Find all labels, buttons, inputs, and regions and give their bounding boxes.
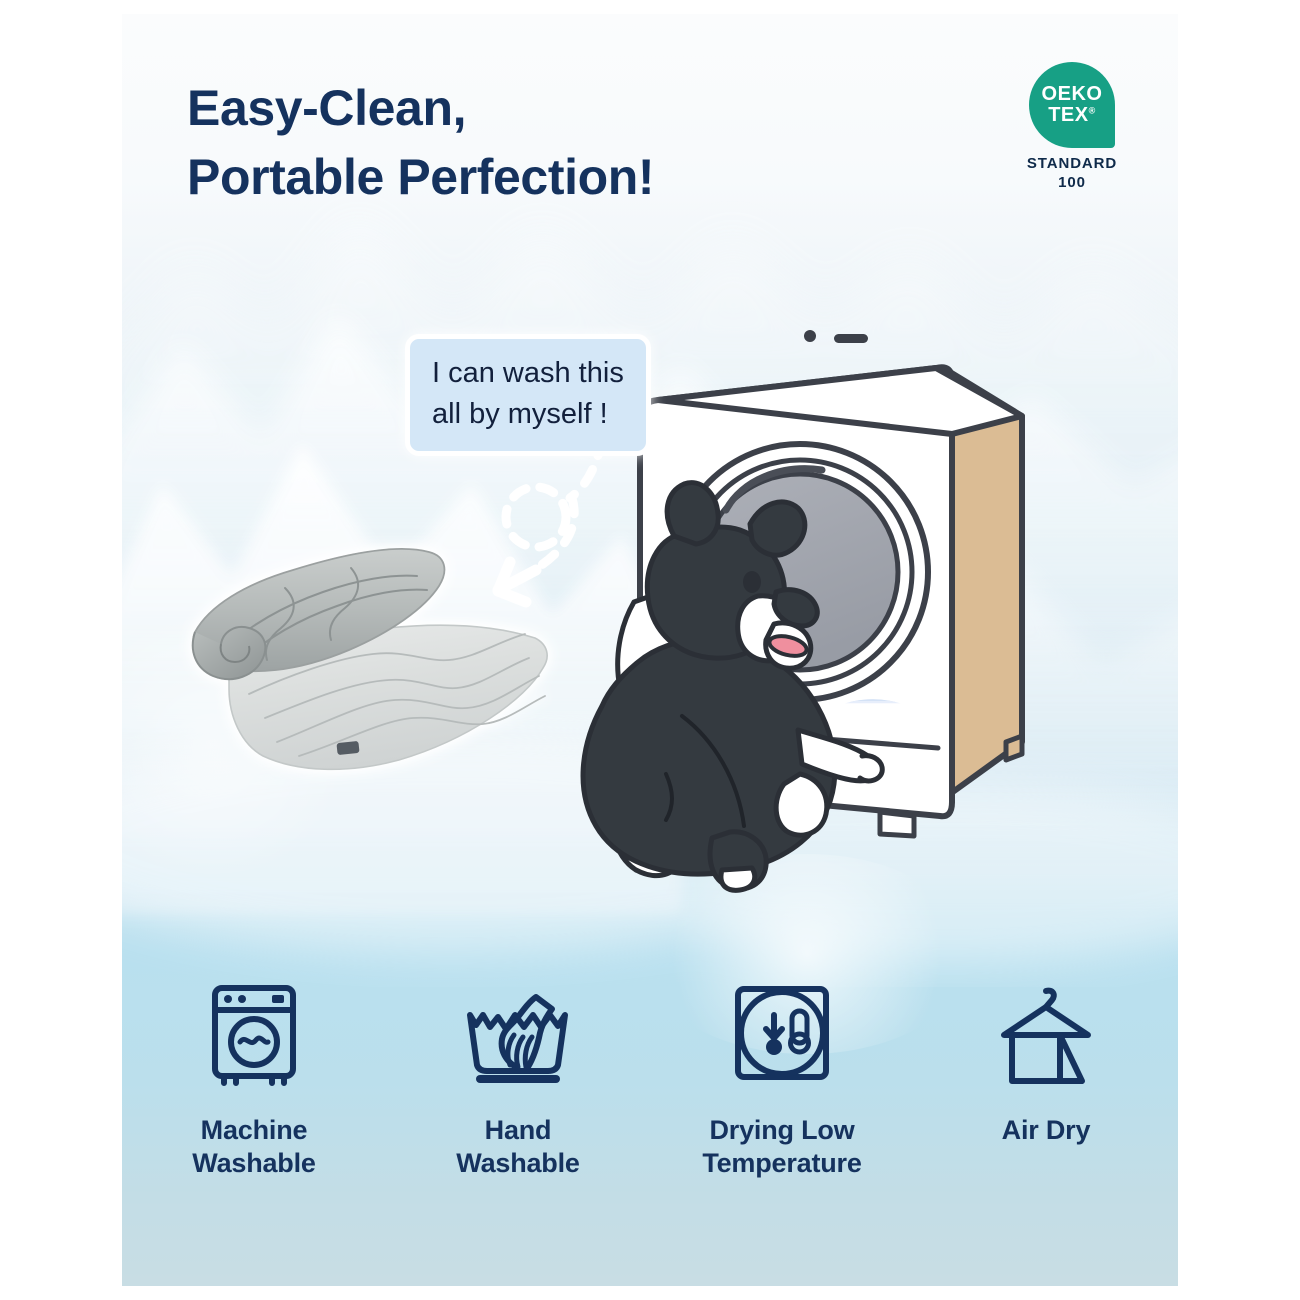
speech-bubble: I can wash this all by myself ! [405,334,651,456]
dashed-curved-arrow-icon [474,434,644,614]
tumble-dry-low-icon [650,974,914,1092]
registered-mark: ® [1089,105,1096,115]
care-instructions-row: Machine Washable [122,974,1178,1180]
feature-label: Drying Low Temperature [650,1114,914,1180]
arrow-head [498,562,536,602]
oeko-tex-droplet-icon: OEKO TEX® [1029,62,1115,148]
oeko-tex-standard-label: STANDARD 100 [1018,155,1126,193]
tex-label: TEX [1048,104,1088,126]
feature-label: Hand Washable [386,1114,650,1180]
hanger-air-dry-icon [914,974,1178,1092]
poster: Easy-Clean, Portable Perfection! OEKO TE… [0,0,1300,1300]
feature-drying-low-temperature: Drying Low Temperature [650,974,914,1180]
oeko-tex-certification-badge: OEKO TEX® STANDARD 100 [1018,62,1126,193]
decoration-marks [804,330,868,343]
feature-label: Machine Washable [122,1114,386,1180]
feature-hand-washable: Hand Washable [386,974,650,1180]
washing-machine-icon [122,974,386,1092]
hand-wash-basin-icon [386,974,650,1092]
oeko-label: OEKO [1042,84,1103,105]
feature-air-dry: Air Dry [914,974,1178,1180]
page-title: Easy-Clean, Portable Perfection! [187,74,654,212]
feature-label: Air Dry [914,1114,1178,1147]
poster-canvas: Easy-Clean, Portable Perfection! OEKO TE… [122,14,1178,1286]
feature-machine-washable: Machine Washable [122,974,386,1180]
